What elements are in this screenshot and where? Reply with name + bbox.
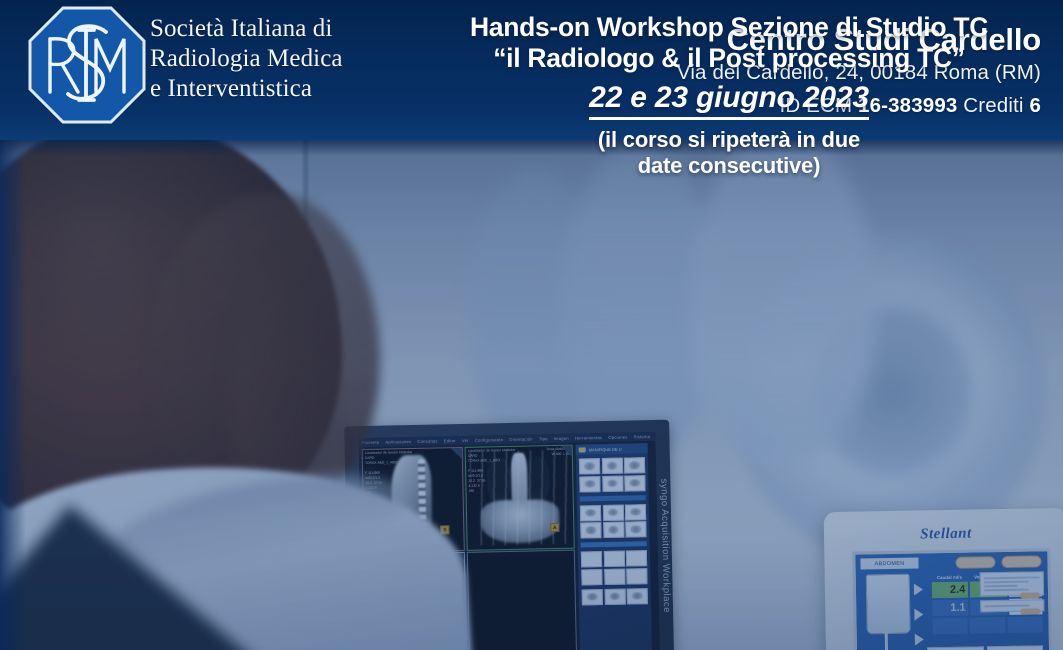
- sirm-logo: [28, 6, 146, 124]
- blue-tint-overlay: [0, 138, 1063, 650]
- event-note-line1: (il corso si ripeterà in due: [419, 127, 1039, 153]
- workshop-title-line1: Hands-on Workshop Sezione di Studio TC: [419, 12, 1039, 43]
- photo-scene: Paciente Aplicaciones Consultas Editar V…: [0, 138, 1063, 650]
- event-dates: 22 e 23 giugno 2023: [589, 81, 869, 120]
- workshop-title-line2: “il Radiologo & il Post processing TC”: [419, 43, 1039, 74]
- event-note-line2: date consecutive): [419, 153, 1039, 179]
- hero-photo: Paciente Aplicaciones Consultas Editar V…: [0, 138, 1063, 650]
- left-vignette: [0, 138, 26, 650]
- event-title-block: Hands-on Workshop Sezione di Studio TC “…: [419, 12, 1039, 180]
- sirm-logo-icon: [28, 6, 146, 124]
- event-poster: Paciente Aplicaciones Consultas Editar V…: [0, 0, 1063, 650]
